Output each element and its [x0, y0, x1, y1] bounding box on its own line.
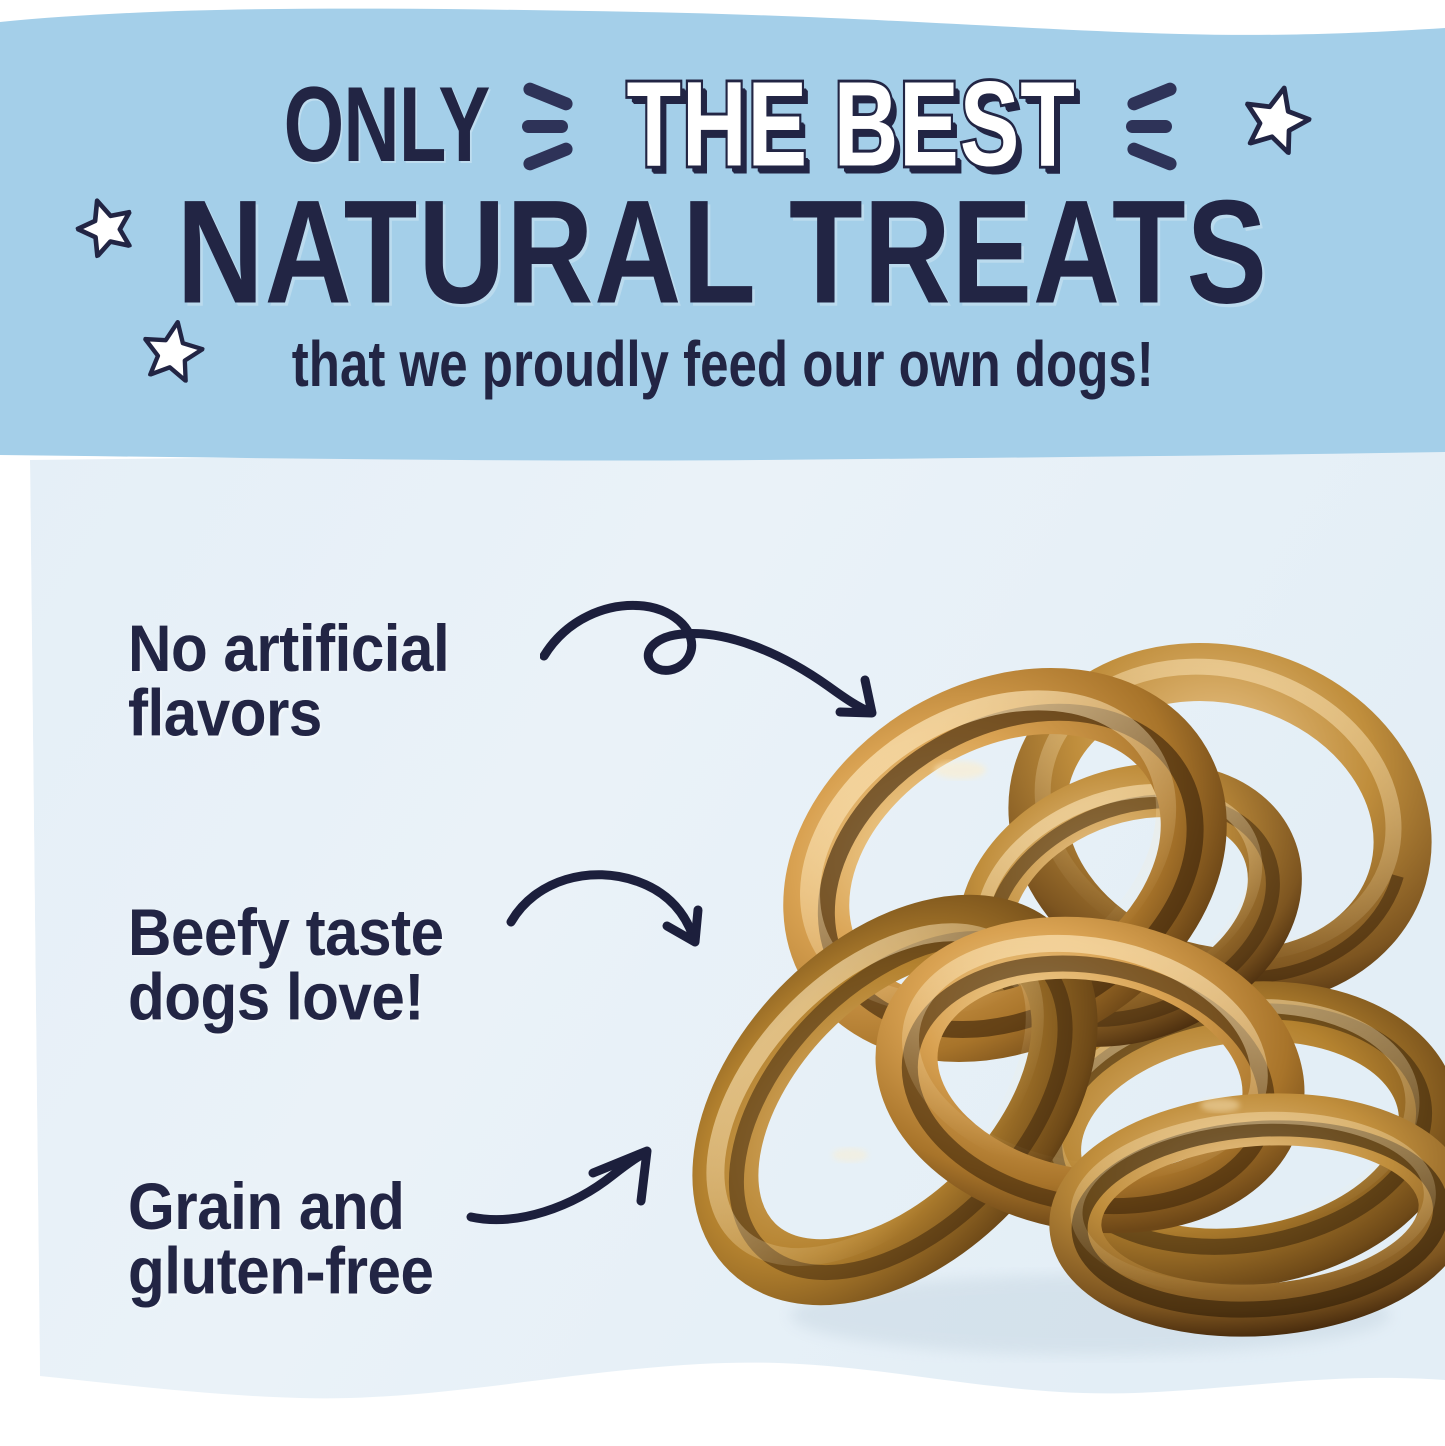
- benefit-item-no-artificial-flavors: No artificial flavors: [128, 602, 598, 739]
- headline-only: ONLY: [283, 72, 489, 178]
- star-icon-bottom-left: [137, 313, 209, 385]
- headline-line-1: ONLY THE BEST: [0, 66, 1445, 184]
- headline-the-best: THE BEST: [627, 65, 1076, 186]
- marketing-infographic: ONLY THE BEST NATURAL TREATS that we pro…: [0, 0, 1445, 1446]
- benefit-label-3: Grain and gluten-free: [128, 1176, 433, 1305]
- arc-arrow-icon: [505, 862, 725, 982]
- headline-natural-treats: NATURAL TREATS: [177, 179, 1268, 326]
- benefit-label-1: No artificial flavors: [128, 618, 449, 747]
- headline-line-2: NATURAL TREATS: [0, 186, 1445, 320]
- benefit-label-2: Beefy taste dogs love!: [128, 902, 444, 1031]
- headline-subtitle: that we proudly feed our own dogs!: [0, 336, 1445, 394]
- swoop-arrow-up-icon: [455, 1135, 705, 1260]
- subtitle-text: that we proudly feed our own dogs!: [291, 333, 1153, 397]
- curly-loop-arrow-icon: [540, 594, 940, 734]
- header-block: ONLY THE BEST NATURAL TREATS that we pro…: [0, 0, 1445, 465]
- starburst-right-icon: [1122, 70, 1184, 180]
- starburst-left-icon: [518, 70, 580, 180]
